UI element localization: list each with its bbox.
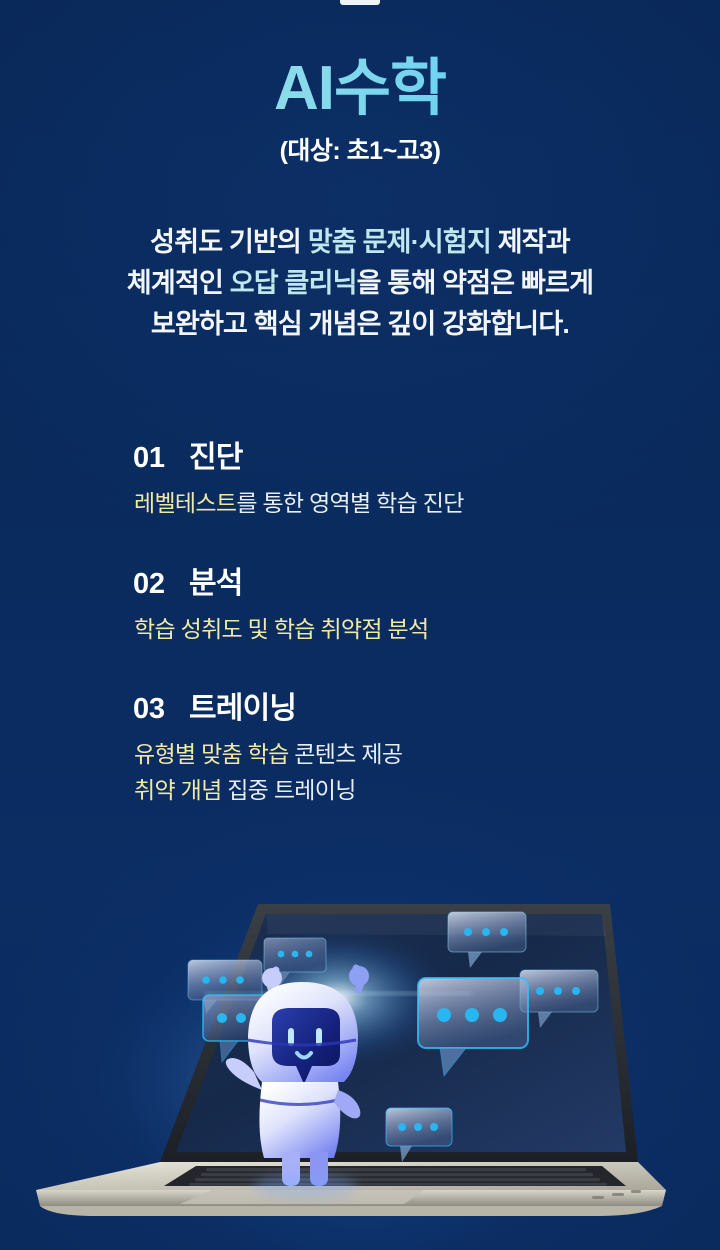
page-title: AI수학 <box>0 56 720 121</box>
step-description: 학습 성취도 및 학습 취약점 분석 <box>133 612 653 648</box>
hero-illustration <box>0 890 720 1250</box>
step-number: 03 <box>133 693 189 726</box>
step-title: 진단 <box>189 432 243 476</box>
step-description: 레벨테스트를 통한 영역별 학습 진단 <box>133 486 653 522</box>
step-desc-highlight: 유형별 맞춤 학습 <box>134 741 289 767</box>
description-line-3: 보완하고 핵심 개념은 깊이 강화합니다. <box>0 304 720 345</box>
step-title: 트레이닝 <box>189 683 296 727</box>
step-description-line: 취약 개념 집중 트레이닝 <box>134 773 653 809</box>
step-item-03: 03 트레이닝 유형별 맞춤 학습 콘텐츠 제공 취약 개념 집중 트레이닝 <box>133 683 653 808</box>
step-desc-plain: 를 통한 영역별 학습 진단 <box>236 490 463 516</box>
promo-page: AI수학 (대상: 초1~고3) 성취도 기반의 맞춤 문제·시험지 제작과 체… <box>0 0 720 1250</box>
step-number: 02 <box>133 568 189 601</box>
step-description-line: 학습 성취도 및 학습 취약점 분석 <box>134 612 653 648</box>
robot-torso <box>259 1082 340 1158</box>
step-header: 01 진단 <box>133 432 653 476</box>
steps-list: 01 진단 레벨테스트를 통한 영역별 학습 진단 02 분석 학습 성취도 및… <box>133 432 653 809</box>
step-header: 02 분석 <box>133 558 653 602</box>
step-item-01: 01 진단 레벨테스트를 통한 영역별 학습 진단 <box>133 432 653 522</box>
description-line-1-plain-b: 제작과 <box>491 227 570 257</box>
header: AI수학 (대상: 초1~고3) <box>0 56 720 167</box>
page-subtitle: (대상: 초1~고3) <box>0 131 720 167</box>
step-description: 유형별 맞춤 학습 콘텐츠 제공 취약 개념 집중 트레이닝 <box>133 737 653 808</box>
step-description-line: 유형별 맞춤 학습 콘텐츠 제공 <box>134 737 653 773</box>
description-line-2-highlight: 오답 클리닉 <box>230 268 357 298</box>
description-line-1-plain-a: 성취도 기반의 <box>150 227 308 257</box>
step-desc-plain: 콘텐츠 제공 <box>289 741 403 767</box>
step-number: 01 <box>133 442 189 475</box>
description-line-2: 체계적인 오답 클리닉을 통해 약점은 빠르게 <box>0 263 720 304</box>
step-header: 03 트레이닝 <box>133 683 653 727</box>
robot-ground-glow <box>253 1174 357 1198</box>
description-block: 성취도 기반의 맞춤 문제·시험지 제작과 체계적인 오답 클리닉을 통해 약점… <box>0 222 720 345</box>
step-description-line: 레벨테스트를 통한 영역별 학습 진단 <box>134 486 653 522</box>
step-item-02: 02 분석 학습 성취도 및 학습 취약점 분석 <box>133 558 653 648</box>
description-line-2-plain-a: 체계적인 <box>127 268 230 298</box>
description-line-1-highlight: 맞춤 문제·시험지 <box>308 227 491 257</box>
step-desc-highlight: 레벨테스트 <box>134 490 236 516</box>
step-title: 분석 <box>189 558 243 602</box>
description-line-1: 성취도 기반의 맞춤 문제·시험지 제작과 <box>0 222 720 263</box>
description-line-2-plain-b: 을 통해 약점은 빠르게 <box>357 268 593 298</box>
step-desc-highlight: 취약 개념 <box>134 777 222 803</box>
top-clipped-tag <box>340 0 380 5</box>
step-desc-plain: 집중 트레이닝 <box>222 777 356 803</box>
step-desc-highlight: 학습 성취도 및 학습 취약점 분석 <box>134 616 428 642</box>
